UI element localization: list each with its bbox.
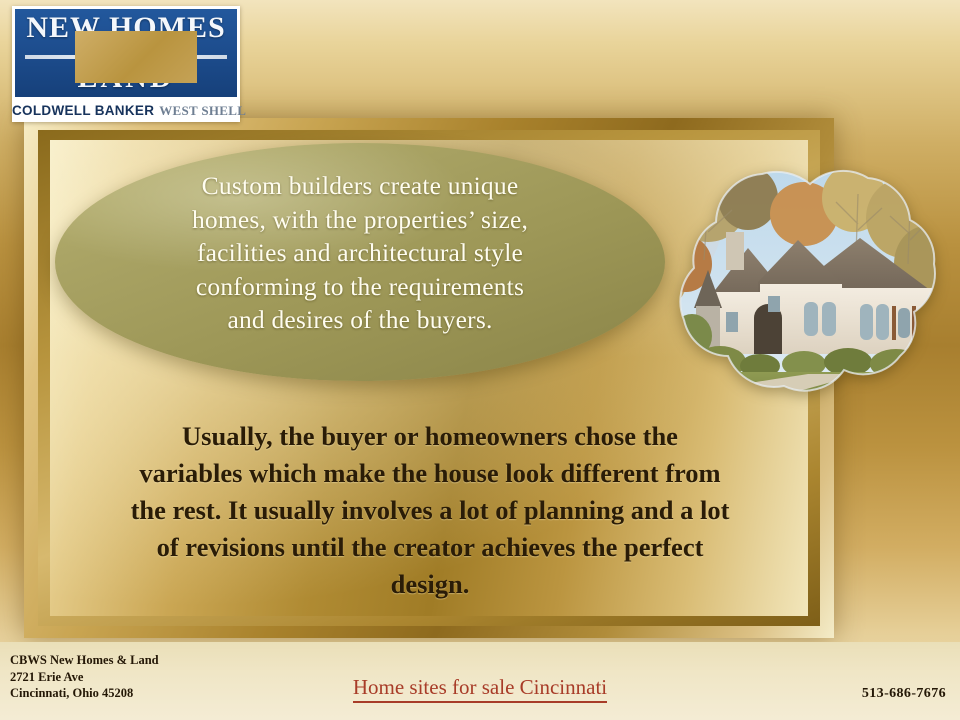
logo-overlay-block <box>75 31 197 83</box>
thought-ellipse: Custom builders create unique homes, wit… <box>55 143 665 381</box>
footer-link-home-sites[interactable]: Home sites for sale Cincinnati <box>353 675 607 703</box>
paragraph-line: of revisions until the creator achieves … <box>52 529 808 566</box>
paragraph-line: variables which make the house look diff… <box>52 455 808 492</box>
footer-phone[interactable]: 513-686-7676 <box>862 686 946 702</box>
paragraph-line: design. <box>52 566 808 603</box>
bubble-line: Custom builders create unique <box>89 169 631 203</box>
logo-brand-west-shell: WEST SHELL <box>159 103 246 118</box>
paragraph-line: Usually, the buyer or homeowners chose t… <box>52 418 808 455</box>
company-logo[interactable]: NEW HOMES LAND COLDWELL BANKERWEST SHELL <box>12 6 240 122</box>
body-paragraph: Usually, the buyer or homeowners chose t… <box>52 418 808 603</box>
footer-link-wrap: Home sites for sale Cincinnati <box>0 675 960 700</box>
paragraph-line: the rest. It usually involves a lot of p… <box>52 492 808 529</box>
footer-company: CBWS New Homes & Land <box>10 652 159 669</box>
bubble-line: facilities and architectural style <box>89 236 631 270</box>
logo-blue-panel: NEW HOMES LAND <box>15 9 237 97</box>
cloud-photo <box>608 136 956 414</box>
bubble-line: homes, with the properties’ size, <box>89 203 631 237</box>
bubble-line: and desires of the buyers. <box>89 303 631 337</box>
logo-brand-row: COLDWELL BANKERWEST SHELL <box>12 102 240 120</box>
slide-canvas: Custom builders create unique homes, wit… <box>0 0 960 720</box>
bubble-line: conforming to the requirements <box>89 270 631 304</box>
logo-brand-coldwell-banker: COLDWELL BANKER <box>12 103 154 118</box>
bubble-text: Custom builders create unique homes, wit… <box>55 169 665 337</box>
footer-bar: CBWS New Homes & Land 2721 Erie Ave Cinc… <box>0 642 960 720</box>
